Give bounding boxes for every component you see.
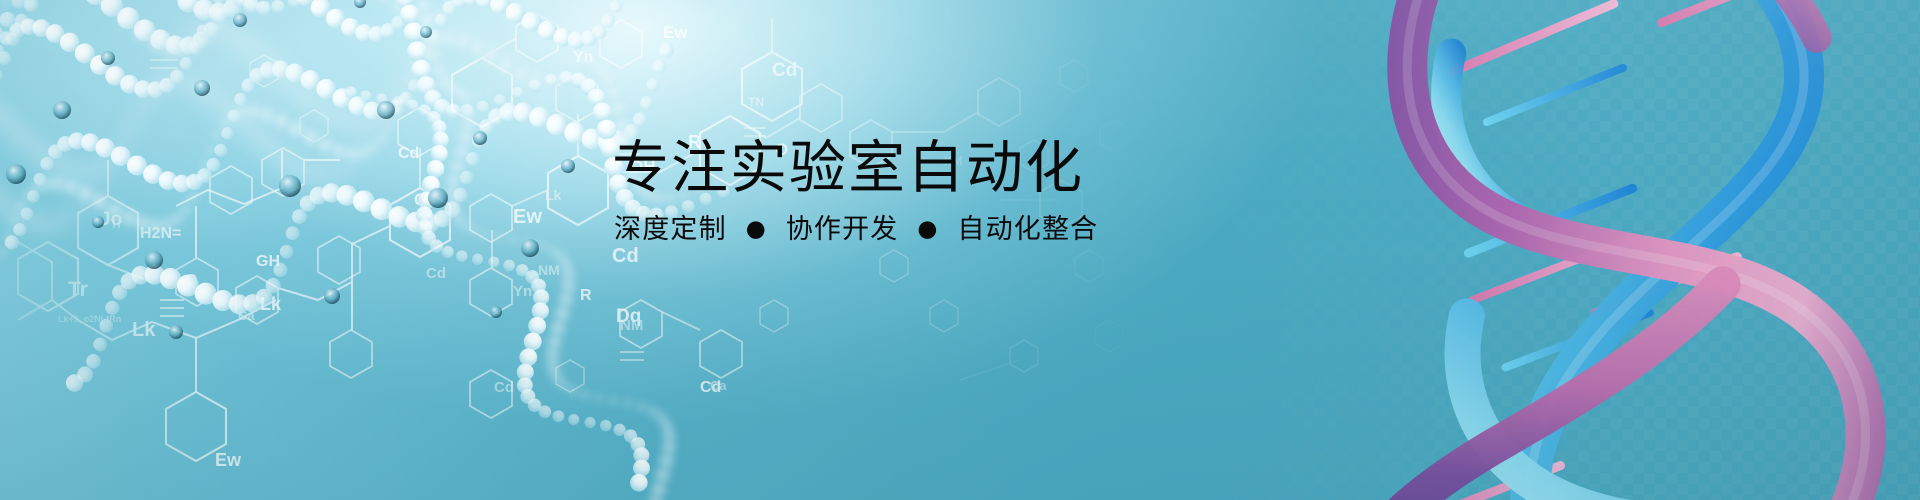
subtitle-item-2: 协作开发 <box>786 214 899 245</box>
banner-copy: 专注实验室自动化 深度定制 ● 协作开发 ● 自动化整合 <box>612 138 1252 247</box>
bullet-separator-icon: ● <box>908 216 947 244</box>
banner-subtitle: 深度定制 ● 协作开发 ● 自动化整合 <box>614 214 1252 246</box>
page-title: 专注实验室自动化 <box>612 138 1252 198</box>
subtitle-item-1: 深度定制 <box>614 214 727 245</box>
bullet-separator-icon: ● <box>737 216 776 244</box>
hero-banner: CdCdCdCdCdCdEwEwEwYnYnNMNMDqDqJoTrTrLkLk… <box>0 0 1920 500</box>
vignette-overlay <box>0 0 1920 500</box>
subtitle-item-3: 自动化整合 <box>957 214 1098 245</box>
